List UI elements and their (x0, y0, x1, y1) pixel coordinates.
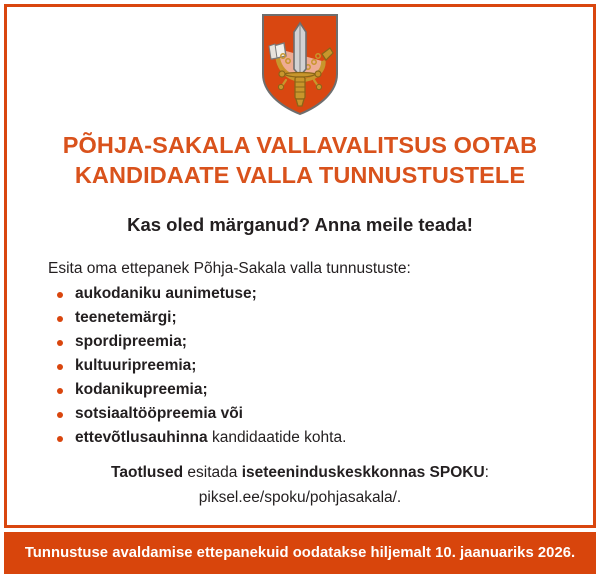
page-title-line-1: PÕHJA-SAKALA VALLAVALITSUS OOTAB (30, 130, 570, 160)
list-item: aukodaniku aunimetuse; (48, 282, 518, 306)
coat-of-arms-icon (260, 12, 340, 117)
list-item: spordipreemia; (48, 330, 518, 354)
application-lead-plain: esitada (183, 464, 242, 481)
page-subtitle: Kas oled märganud? Anna meile teada! (30, 213, 570, 237)
award-category-list: aukodaniku aunimetuse;teenetemärgi;spord… (48, 282, 518, 450)
list-item-label: sotsiaaltööpreemia või (75, 405, 243, 422)
list-item-label: teenetemärgi; (75, 309, 177, 326)
list-item-label: kultuuripreemia; (75, 357, 196, 374)
application-info: Taotlused esitada iseteeninduskeskkonnas… (30, 460, 570, 510)
list-item-suffix: kandidaatide kohta. (208, 429, 347, 446)
list-item: kodanikupreemia; (48, 378, 518, 402)
application-url[interactable]: piksel.ee/spoku/pohjasakala/. (30, 485, 570, 510)
intro-text: Esita oma ettepanek Põhja-Sakala valla t… (48, 258, 411, 280)
deadline-banner: Tunnustuse avaldamise ettepanekuid oodat… (4, 532, 596, 574)
application-lead-bold: Taotlused (111, 464, 183, 481)
list-item: kultuuripreemia; (48, 354, 518, 378)
list-item: sotsiaaltööpreemia või (48, 402, 518, 426)
list-item-label: spordipreemia; (75, 333, 187, 350)
list-item: ettevõtlusauhinna kandidaatide kohta. (48, 426, 518, 450)
deadline-text: Tunnustuse avaldamise ettepanekuid oodat… (25, 544, 575, 562)
application-channel: iseteeninduskeskkonnas SPOKU (242, 464, 485, 481)
page-title-line-2: KANDIDAATE VALLA TUNNUSTUSTELE (30, 160, 570, 190)
coat-of-arms-container (0, 12, 600, 117)
list-item-label: kodanikupreemia; (75, 381, 208, 398)
list-item-label: ettevõtlusauhinna (75, 429, 208, 446)
list-item-label: aukodaniku aunimetuse; (75, 285, 257, 302)
announcement-poster: PÕHJA-SAKALA VALLAVALITSUS OOTAB KANDIDA… (0, 0, 600, 578)
list-item: teenetemärgi; (48, 306, 518, 330)
page-title: PÕHJA-SAKALA VALLAVALITSUS OOTAB KANDIDA… (30, 130, 570, 190)
application-colon: : (485, 464, 489, 481)
